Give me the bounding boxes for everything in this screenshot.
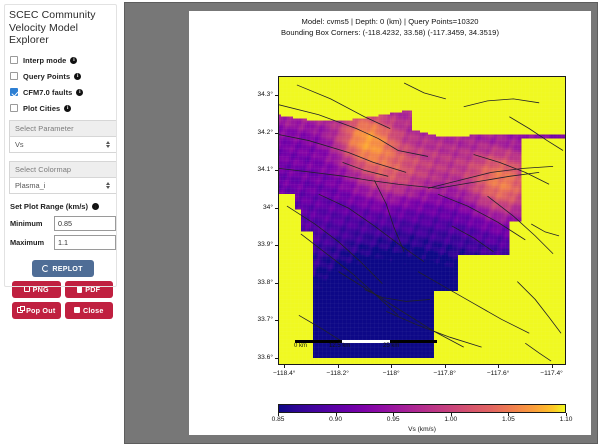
checkbox-query-points[interactable] — [10, 72, 18, 80]
app-window: SCEC Community Velocity Model Explorer I… — [0, 0, 600, 446]
checkbox-label-query-points: Query Points — [23, 72, 70, 81]
y-tick-label: 33.6° — [233, 354, 273, 361]
popout-button[interactable]: Pop Out — [12, 302, 61, 319]
y-tick-label: 34.1° — [233, 166, 273, 173]
y-tick-mark — [275, 283, 278, 284]
y-tick-mark — [275, 95, 278, 96]
colorbar-tick-label: 1.10 — [546, 416, 586, 423]
y-tick-mark — [275, 133, 278, 134]
fault-trace — [404, 83, 446, 99]
info-icon[interactable]: i — [70, 57, 77, 64]
x-tick-label: −118° — [369, 370, 413, 377]
info-icon[interactable]: i — [76, 89, 83, 96]
colorbar-tick-label: 0.95 — [373, 416, 413, 423]
minimum-label: Minimum — [10, 219, 54, 228]
x-tick-label: −117.4° — [530, 370, 574, 377]
colorbar-tick-label: 0.85 — [258, 416, 298, 423]
fault-trace — [428, 166, 553, 188]
replot-button-label: REPLOT — [52, 264, 82, 273]
y-tick-label: 34° — [233, 204, 273, 211]
close-button[interactable]: Close — [65, 302, 114, 319]
colormap-value: Plasma_i — [15, 181, 45, 190]
colorbar-group: 0.850.900.951.001.051.10 Vs (km/s) — [278, 404, 566, 413]
page-title: SCEC Community Velocity Model Explorer — [9, 9, 118, 47]
plot-card: Model: cvms5 | Depth: 0 (km) | Query Poi… — [189, 11, 591, 435]
y-tick-mark — [275, 320, 278, 321]
y-tick-mark — [275, 170, 278, 171]
x-tick-mark — [552, 365, 553, 368]
y-tick-mark — [275, 208, 278, 209]
y-tick-mark — [275, 358, 278, 359]
colorbar-tick-label: 1.00 — [431, 416, 471, 423]
pdf-button[interactable]: PDF — [65, 281, 114, 298]
x-tick-label: −118.4° — [262, 370, 306, 377]
plot-title-line2: Bounding Box Corners: (-118.4232, 33.58)… — [189, 27, 591, 38]
x-tick-mark — [498, 365, 499, 368]
x-tick-mark — [338, 365, 339, 368]
y-tick-label: 33.9° — [233, 241, 273, 248]
scale-bar-label: 0 km — [294, 343, 307, 349]
colormap-field: Select Colormap Plasma_i — [9, 161, 117, 194]
plot-range-title: Set Plot Range (km/s) — [10, 202, 88, 211]
checkbox-cfm-faults[interactable] — [10, 88, 18, 96]
document-icon — [77, 286, 82, 293]
colorbar-label: Vs (km/s) — [278, 426, 566, 433]
colormap-label: Select Colormap — [9, 161, 117, 178]
parameter-value: Vs — [15, 140, 24, 149]
pdf-button-label: PDF — [85, 285, 100, 294]
checkbox-label-plot-cities: Plot Cities — [23, 104, 60, 113]
map-axes[interactable]: 0 km 12.5 km 25 km — [278, 76, 566, 365]
refresh-icon — [42, 265, 49, 272]
colormap-select[interactable]: Plasma_i — [9, 178, 117, 194]
checkbox-row-cfm-faults[interactable]: CFM7.0 faults i — [10, 88, 118, 97]
minimum-input[interactable] — [54, 216, 116, 231]
checkbox-label-interp-mode: Interp mode — [23, 56, 66, 65]
control-sidebar: SCEC Community Velocity Model Explorer I… — [0, 0, 124, 446]
x-tick-label: −118.2° — [316, 370, 360, 377]
fault-trace — [474, 154, 549, 184]
y-tick-mark — [275, 245, 278, 246]
chevron-updown-icon[interactable] — [106, 141, 110, 148]
maximum-input[interactable] — [54, 235, 116, 250]
replot-button[interactable]: REPLOT — [32, 260, 94, 277]
checkbox-plot-cities[interactable] — [10, 104, 18, 112]
checkbox-row-plot-cities[interactable]: Plot Cities i — [10, 104, 118, 113]
checkbox-row-interp-mode[interactable]: Interp mode i — [10, 56, 118, 65]
plot-title: Model: cvms5 | Depth: 0 (km) | Query Poi… — [189, 16, 591, 38]
fault-trace — [339, 272, 464, 347]
checkbox-label-cfm-faults: CFM7.0 faults — [23, 88, 72, 97]
image-icon — [24, 286, 30, 292]
info-icon[interactable]: i — [92, 203, 99, 210]
scale-bar-label: 25 km — [383, 343, 399, 349]
x-tick-label: −117.8° — [423, 370, 467, 377]
window-button-row: Pop Out Close — [12, 302, 113, 319]
x-tick-label: −117.6° — [476, 370, 520, 377]
checkbox-row-query-points[interactable]: Query Points i — [10, 72, 118, 81]
x-tick-mark — [284, 365, 285, 368]
y-tick-label: 33.7° — [233, 316, 273, 323]
popout-button-label: Pop Out — [26, 306, 55, 315]
x-tick-mark — [391, 365, 392, 368]
parameter-label: Select Parameter — [9, 120, 117, 137]
scale-bar-label: 12.5 km — [329, 343, 350, 349]
plot-range-heading: Set Plot Range (km/s) i — [10, 202, 118, 211]
checkbox-interp-mode[interactable] — [10, 56, 18, 64]
info-icon[interactable]: i — [64, 105, 71, 112]
scale-bar: 0 km 12.5 km 25 km — [295, 340, 437, 350]
y-tick-label: 34.2° — [233, 129, 273, 136]
close-icon — [74, 307, 80, 313]
y-tick-label: 33.8° — [233, 279, 273, 286]
maximum-label: Maximum — [10, 238, 54, 247]
fault-traces-overlay — [279, 77, 565, 364]
info-icon[interactable]: i — [74, 73, 81, 80]
png-button-label: PNG — [33, 285, 49, 294]
y-tick-label: 34.3° — [233, 91, 273, 98]
action-buttons: REPLOT PNG PDF Pop Out Cl — [7, 260, 118, 319]
parameter-field: Select Parameter Vs — [9, 120, 117, 153]
parameter-select[interactable]: Vs — [9, 137, 117, 153]
fault-trace — [301, 234, 398, 315]
export-button-row: PNG PDF — [12, 281, 113, 298]
close-button-label: Close — [83, 306, 104, 315]
chevron-updown-icon[interactable] — [106, 182, 110, 189]
colorbar-tick-label: 0.90 — [316, 416, 356, 423]
map-gridlines — [279, 77, 565, 364]
x-tick-mark — [445, 365, 446, 368]
colorbar — [278, 404, 566, 413]
png-button[interactable]: PNG — [12, 281, 61, 298]
popout-icon — [17, 307, 23, 313]
minimum-row: Minimum — [10, 216, 118, 231]
maximum-row: Maximum — [10, 235, 118, 250]
plot-title-line1: Model: cvms5 | Depth: 0 (km) | Query Poi… — [189, 16, 591, 27]
plot-frame: Model: cvms5 | Depth: 0 (km) | Query Poi… — [124, 2, 598, 444]
colorbar-tick-label: 1.05 — [488, 416, 528, 423]
